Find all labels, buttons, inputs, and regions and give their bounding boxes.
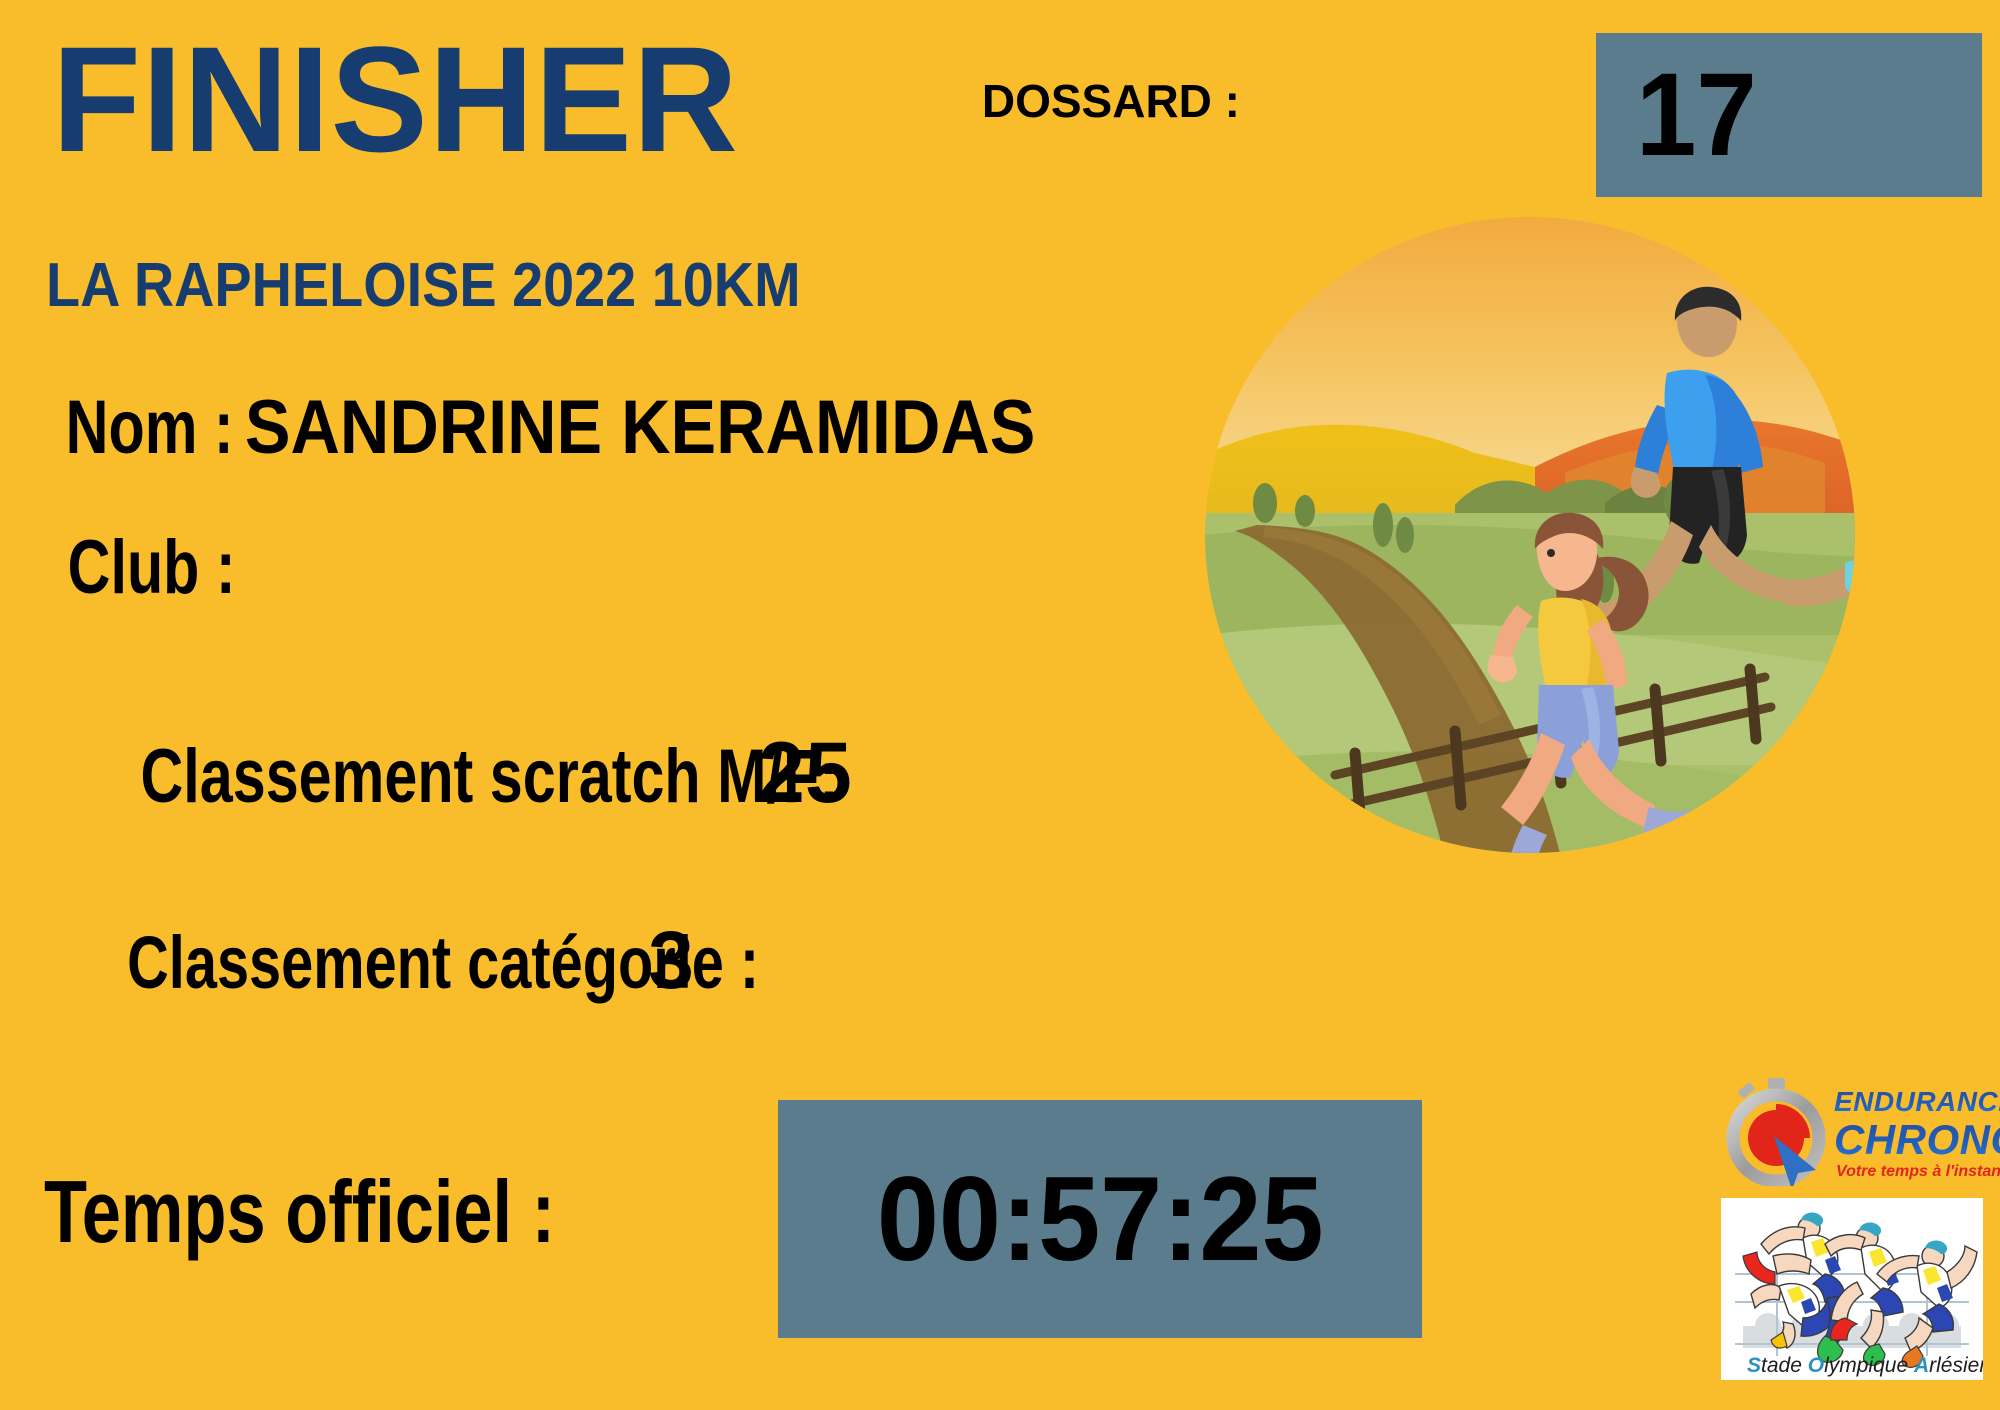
logo-chrono-tagline: Votre temps à l'instant T: [1836, 1163, 2000, 1180]
event-subtitle: LA RAPHELOISE 2022 10KM: [46, 255, 801, 317]
temps-officiel-box: 00:57:25: [778, 1100, 1422, 1338]
temps-officiel-label: Temps officiel :: [44, 1168, 555, 1256]
endurance-chrono-logo: ENDURANCE CHRONO Votre temps à l'instant…: [1712, 1078, 2000, 1186]
temps-officiel-value: 00:57:25: [877, 1159, 1324, 1279]
field-classement-categorie-label: Classement catégorie :: [127, 926, 759, 1000]
logo-endurance-text: ENDURANCE: [1834, 1086, 2000, 1117]
field-classement-categorie: Classement catégorie : 3: [38, 920, 694, 1002]
dossard-value: 17: [1636, 56, 1757, 174]
field-nom-label: Nom :: [66, 390, 234, 466]
finisher-certificate: FINISHER LA RAPHELOISE 2022 10KM DOSSARD…: [0, 0, 2000, 1410]
field-classement-scratch-label: Classement scratch M/F:: [140, 739, 838, 815]
logo-chrono-text: CHRONO: [1834, 1116, 2000, 1163]
field-club: Club :: [44, 530, 289, 606]
dossard-label: DOSSARD :: [982, 78, 1240, 124]
field-classement-scratch-value: 25: [758, 730, 852, 816]
dossard-box: 17: [1596, 33, 1982, 197]
page-title: FINISHER: [52, 24, 739, 174]
stade-olympique-arlesien-logo: Stade Olympique Arlésien: [1721, 1198, 1983, 1380]
field-nom: Nom : SANDRINE KERAMIDAS: [42, 390, 1080, 466]
runners-illustration: [1205, 205, 1925, 915]
field-club-label: Club :: [68, 530, 236, 606]
logo-club-name: Stade Olympique Arlésien: [1747, 1354, 1983, 1377]
field-nom-value: SANDRINE KERAMIDAS: [245, 390, 1035, 466]
field-classement-scratch: Classement scratch M/F: 25: [42, 730, 853, 816]
